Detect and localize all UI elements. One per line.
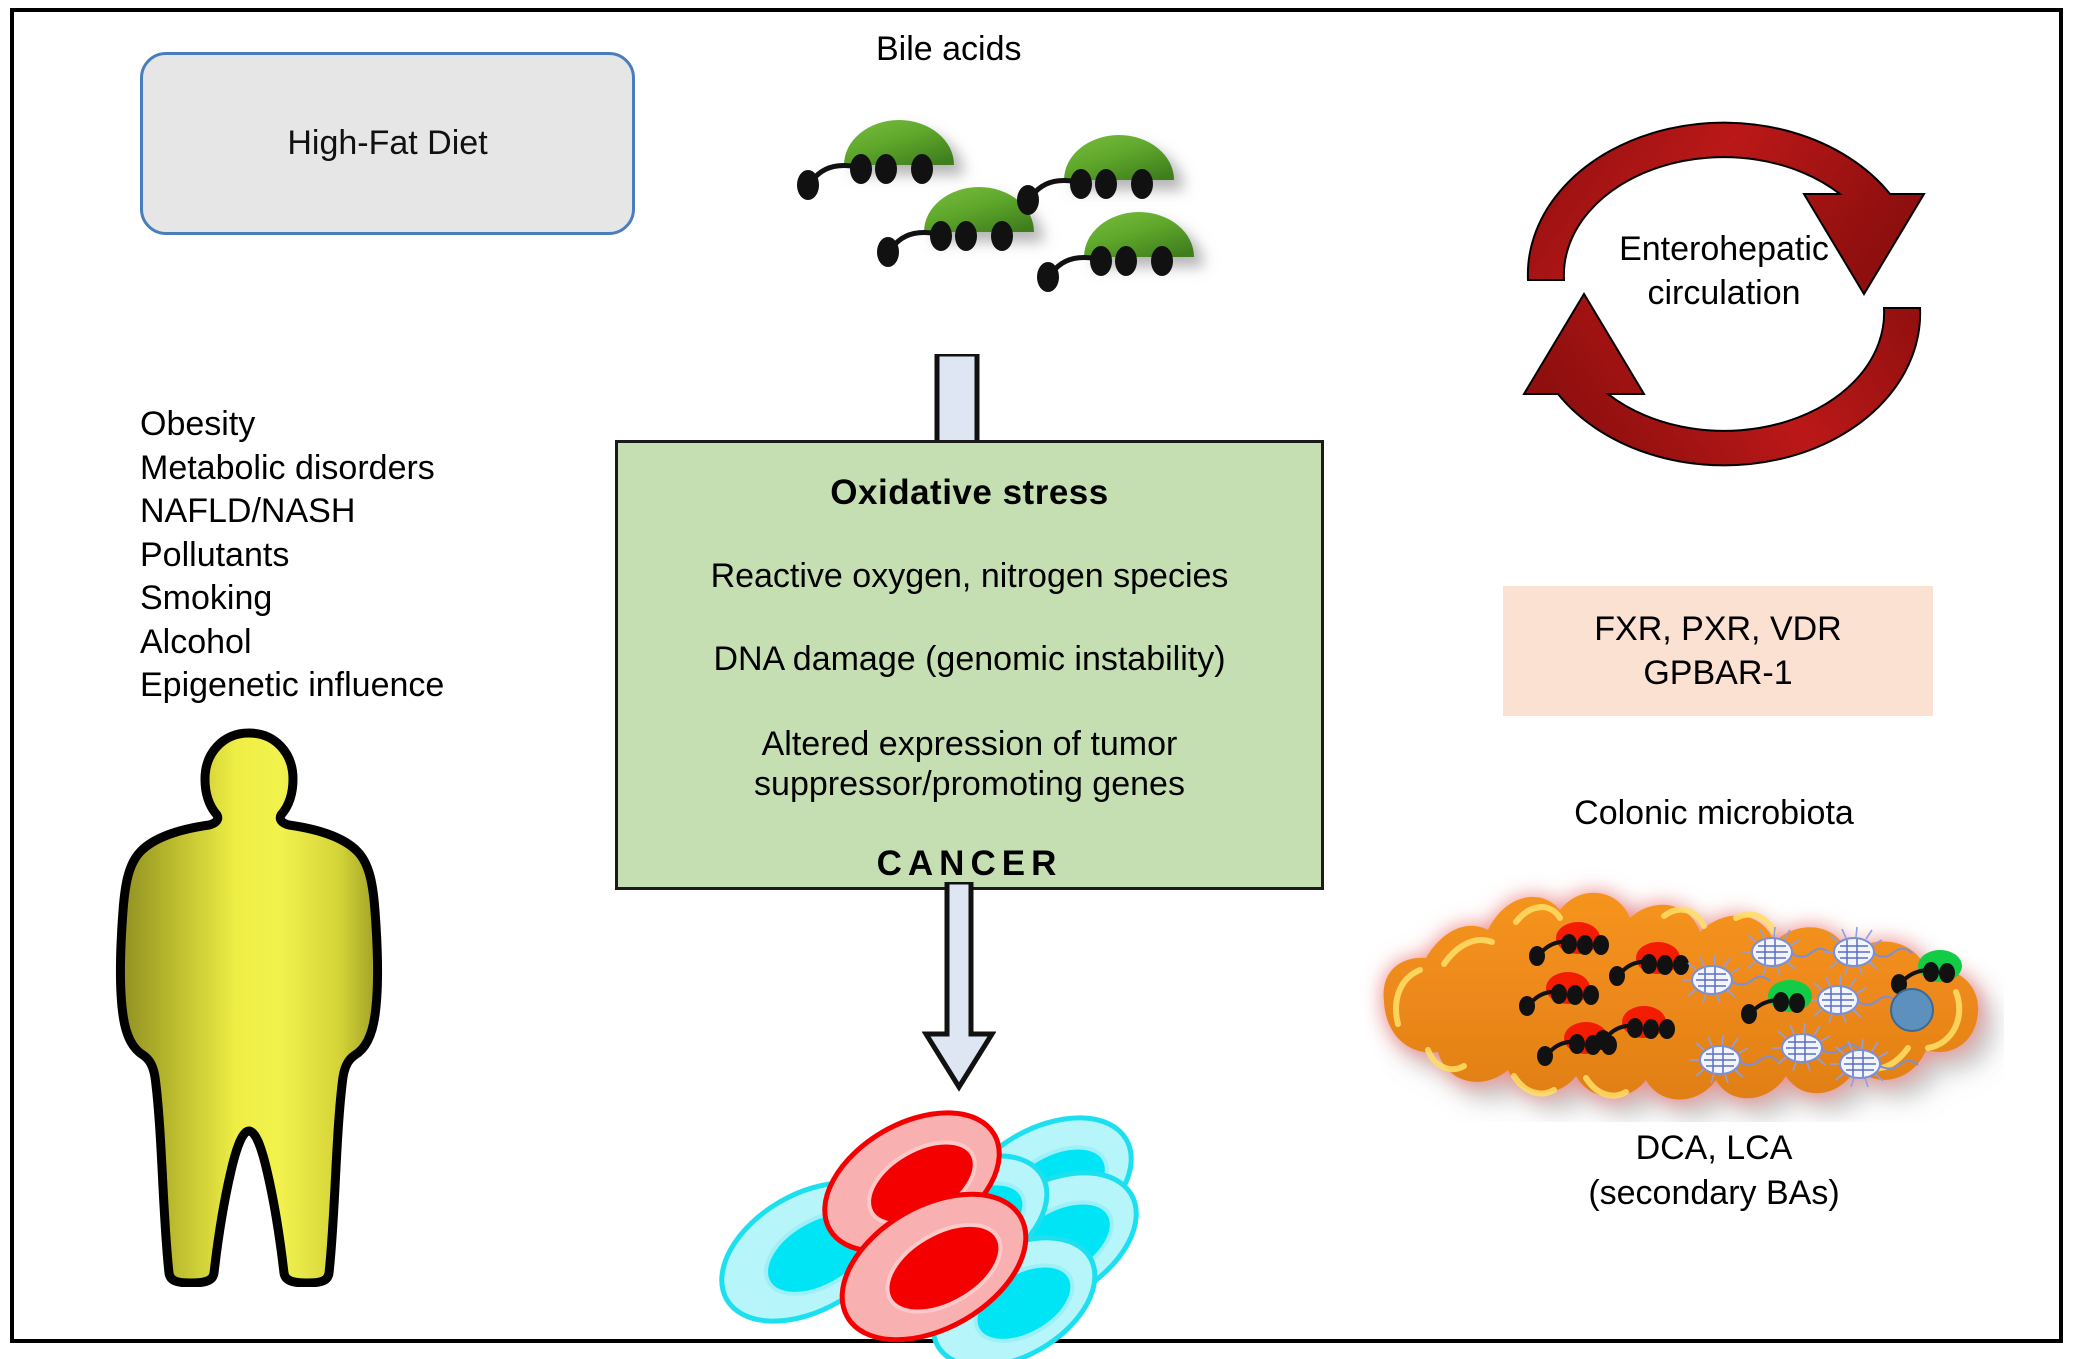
receptor-line-1: FXR, PXR, VDR <box>1594 607 1841 651</box>
high-fat-diet-box: High-Fat Diet <box>140 52 635 235</box>
oxidative-stress-line: DNA damage (genomic instability) <box>618 639 1321 679</box>
enterohepatic-line-1: Enterohepatic <box>1494 227 1954 271</box>
oxidative-stress-title: Oxidative stress <box>618 473 1321 513</box>
cancer-cell-cluster <box>714 1052 1144 1359</box>
secondary-bile-acids-label: DCA, LCA (secondary BAs) <box>1444 1126 1984 1216</box>
colonic-microbiota-label: Colonic microbiota <box>1444 794 1984 833</box>
obese-person-icon <box>109 727 389 1287</box>
high-fat-diet-label: High-Fat Diet <box>287 124 487 163</box>
enterohepatic-circulation-group: Enterohepatic circulation <box>1494 72 1954 472</box>
bile-acid-molecule-cluster <box>774 67 1224 317</box>
colon-microbiota-graphic <box>1364 852 2004 1122</box>
risk-factor-item: Epigenetic influence <box>140 664 570 708</box>
enterohepatic-line-2: circulation <box>1494 271 1954 315</box>
secondary-ba-line-2: (secondary BAs) <box>1444 1171 1984 1216</box>
risk-factor-item: Smoking <box>140 577 570 621</box>
bile-acid-receptor-box: FXR, PXR, VDR GPBAR-1 <box>1503 586 1933 716</box>
risk-factor-item: NAFLD/NASH <box>140 490 570 534</box>
enterohepatic-circulation-label: Enterohepatic circulation <box>1494 227 1954 315</box>
risk-factor-list: Obesity Metabolic disorders NAFLD/NASH P… <box>140 403 570 708</box>
risk-factor-item: Alcohol <box>140 621 570 665</box>
oxidative-stress-line: suppressor/promoting genes <box>618 764 1321 804</box>
bile-acids-label: Bile acids <box>876 30 1022 69</box>
oxidative-stress-line: Altered expression of tumor <box>618 724 1321 764</box>
figure-frame: High-Fat Diet Obesity Metabolic disorder… <box>10 8 2063 1343</box>
oxidative-stress-line: Reactive oxygen, nitrogen species <box>618 556 1321 596</box>
risk-factor-item: Metabolic disorders <box>140 447 570 491</box>
receptor-line-2: GPBAR-1 <box>1643 651 1792 695</box>
cancer-outcome-label: CANCER <box>618 844 1321 884</box>
risk-factor-item: Obesity <box>140 403 570 447</box>
risk-factor-item: Pollutants <box>140 534 570 578</box>
oxidative-stress-box: Oxidative stress Reactive oxygen, nitrog… <box>615 440 1324 890</box>
figure-canvas: High-Fat Diet Obesity Metabolic disorder… <box>0 0 2077 1359</box>
secondary-ba-line-1: DCA, LCA <box>1444 1126 1984 1171</box>
connector-bile-to-oxidative <box>934 354 980 448</box>
